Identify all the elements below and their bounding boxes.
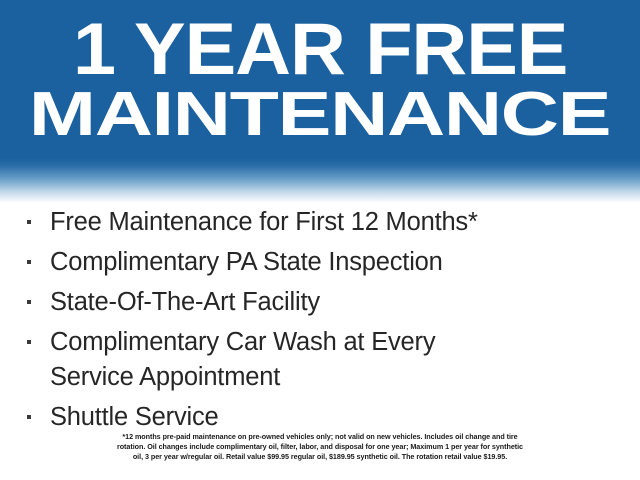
headline-line-secondary: MAINTENANCE xyxy=(29,86,610,145)
headline-line-primary: 1 YEAR FREE xyxy=(73,15,567,84)
bullet-square-icon xyxy=(27,415,31,419)
list-item: Complimentary PA State Inspection xyxy=(0,245,640,280)
benefit-label: Complimentary PA State Inspection xyxy=(50,248,443,276)
list-item: Complimentary Car Wash at EveryService A… xyxy=(0,325,640,395)
disclaimer-line: *12 months pre-paid maintenance on pre-o… xyxy=(0,432,640,442)
benefits-list: Free Maintenance for First 12 Months* Co… xyxy=(0,205,640,440)
list-item: State-Of-The-Art Facility xyxy=(0,285,640,320)
list-item: Free Maintenance for First 12 Months* xyxy=(0,205,640,240)
bullet-square-icon xyxy=(27,340,31,344)
benefit-label: State-Of-The-Art Facility xyxy=(50,288,320,316)
banner-headline: 1 YEAR FREE MAINTENANCE xyxy=(0,0,640,160)
benefit-label: Complimentary Car Wash at EveryService A… xyxy=(50,328,435,391)
bullet-square-icon xyxy=(27,220,31,224)
disclaimer-text: *12 months pre-paid maintenance on pre-o… xyxy=(0,432,640,463)
benefit-label: Shuttle Service xyxy=(50,403,219,431)
benefit-label: Free Maintenance for First 12 Months* xyxy=(50,208,478,236)
list-item: Shuttle Service xyxy=(0,400,640,435)
disclaimer-line: rotation. Oil changes include compliment… xyxy=(0,442,640,452)
promo-banner: 1 YEAR FREE MAINTENANCE xyxy=(0,0,640,205)
disclaimer-line: oil, 3 per year w/regular oil. Retail va… xyxy=(0,452,640,462)
bullet-square-icon xyxy=(27,300,31,304)
bullet-square-icon xyxy=(27,260,31,264)
